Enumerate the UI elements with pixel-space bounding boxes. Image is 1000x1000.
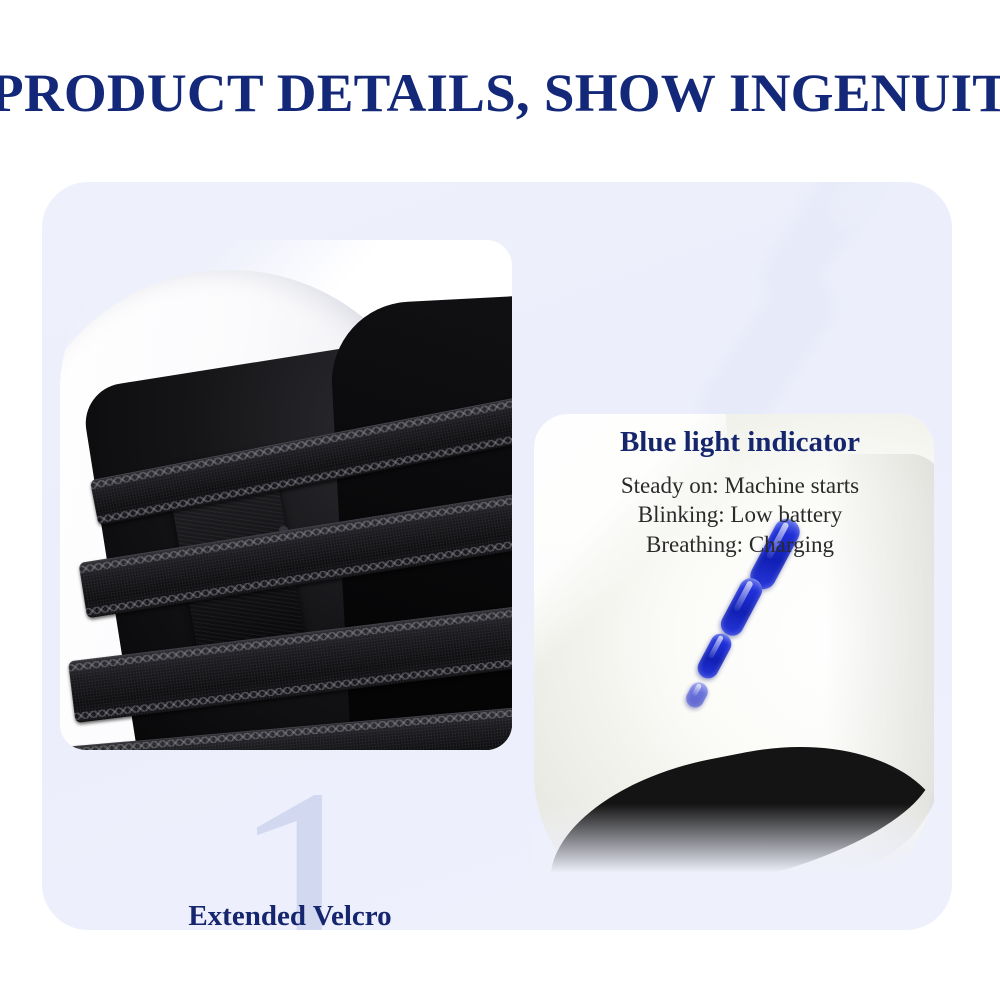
page-title: PRODUCT DETAILS, SHOW INGENUITY xyxy=(0,62,1000,124)
photo-bottom-fade xyxy=(534,804,934,884)
feature-line: Steady on: Machine starts xyxy=(540,471,940,500)
content-panel: 1 2 xyxy=(42,182,952,930)
product-photo-velcro xyxy=(60,240,512,750)
feature-line: Blinking: Low battery xyxy=(540,500,940,529)
ghost-shape-1 xyxy=(752,182,886,313)
feature-caption-velcro: Extended Velcro Fits all knee sizes secu… xyxy=(80,900,500,930)
feature-line: Breathing: Charging xyxy=(540,530,940,559)
feature-heading: Extended Velcro xyxy=(80,900,500,930)
ghost-shape-3 xyxy=(820,182,903,235)
brace-rivet xyxy=(279,526,288,533)
feature-heading: Blue light indicator xyxy=(540,426,940,459)
feature-caption-blue-light: Blue light indicator Steady on: Machine … xyxy=(540,426,940,559)
